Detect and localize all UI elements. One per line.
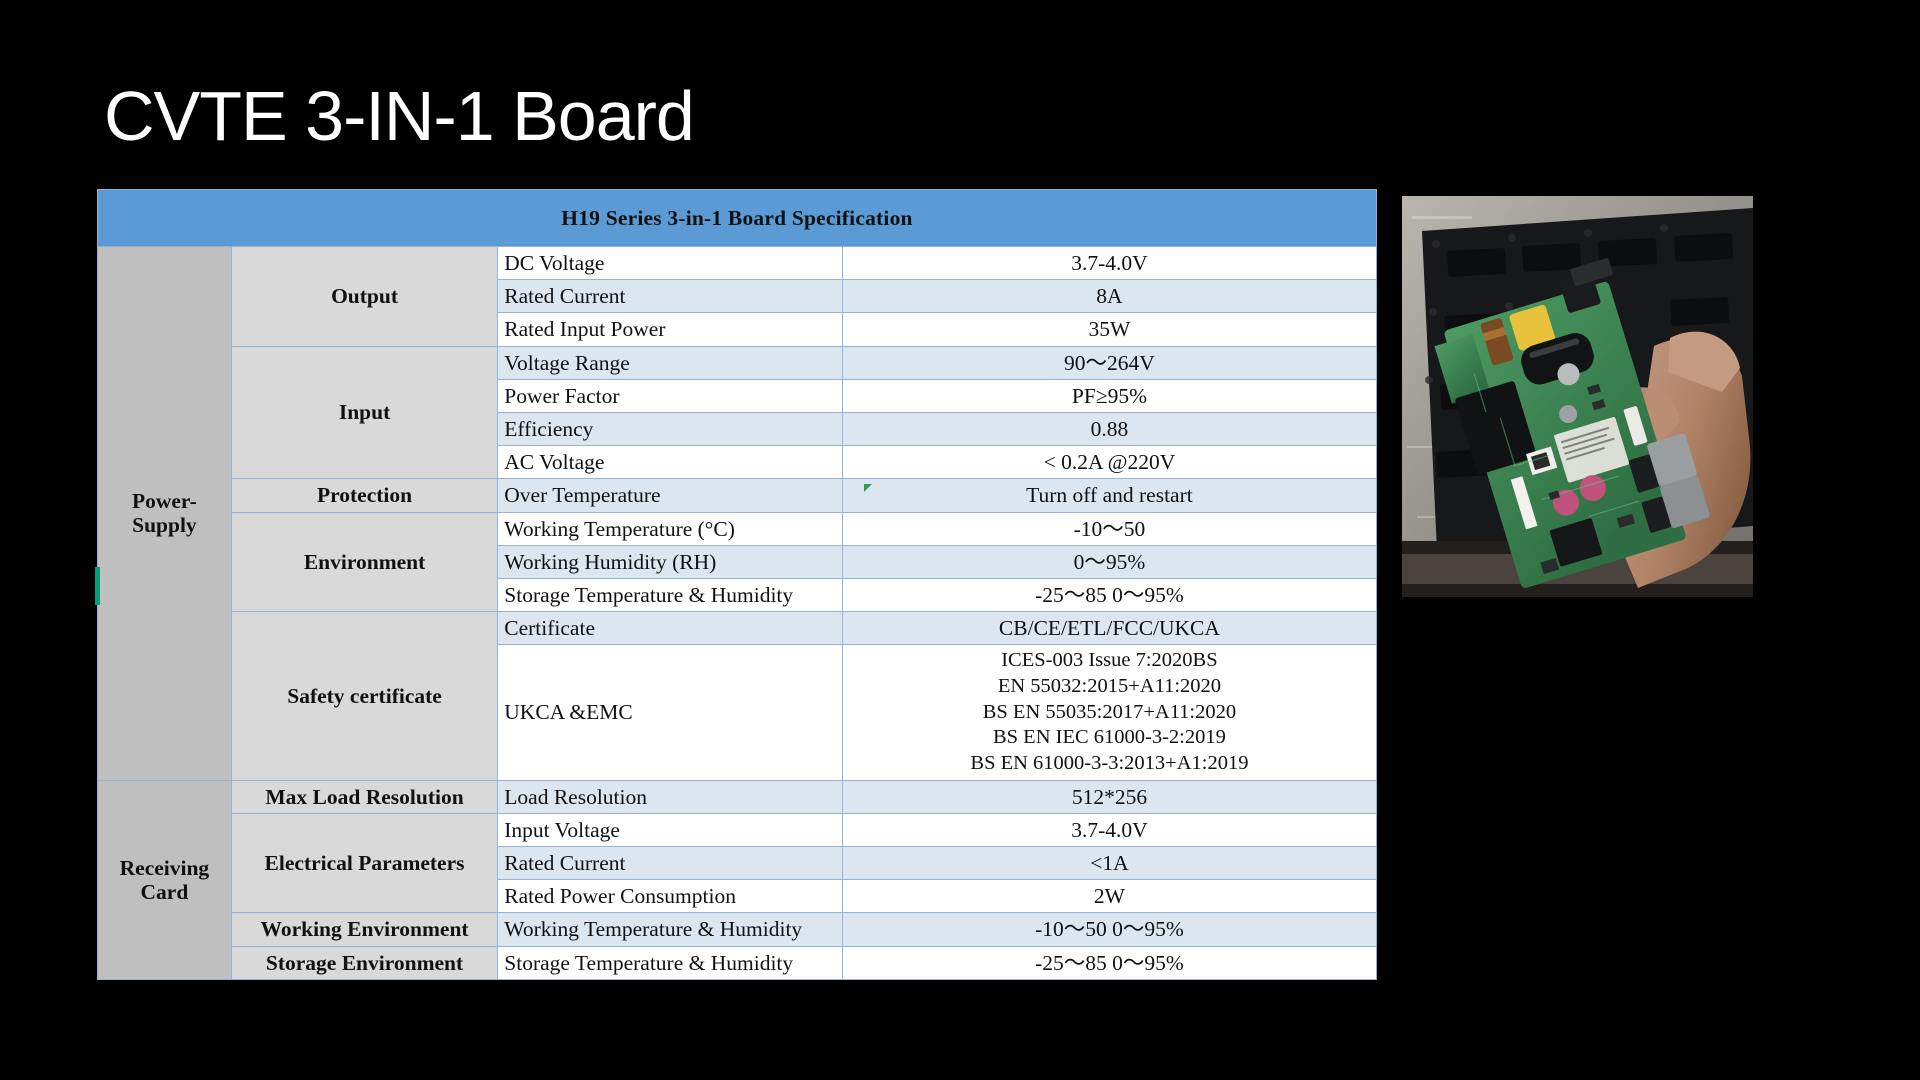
slide-edit-marker [95,567,100,605]
param-label: Storage Temperature & Humidity [498,946,843,979]
param-value: -10～50 [842,512,1376,545]
spec-table: H19 Series 3-in-1 Board SpecificationPow… [97,189,1377,980]
param-label: Working Temperature (°C) [498,512,843,545]
table-row: Storage EnvironmentStorage Temperature &… [98,946,1377,979]
table-banner-row: H19 Series 3-in-1 Board Specification [98,190,1377,247]
presentation-slide: CVTE 3-IN-1 Board H19 Series 3-in-1 Boar… [0,0,1920,1080]
subgroup-label: Working Environment [231,913,497,946]
param-value: < 0.2A @220V [842,446,1376,479]
param-value: 35W [842,313,1376,346]
param-label: Certificate [498,612,843,645]
param-label: Power Factor [498,379,843,412]
table-banner-title: H19 Series 3-in-1 Board Specification [98,190,1377,247]
group-label: Receiving Card [98,780,232,979]
param-value: 3.7-4.0V [842,247,1376,280]
param-value: CB/CE/ETL/FCC/UKCA [842,612,1376,645]
subgroup-label: Max Load Resolution [231,780,497,813]
param-label: AC Voltage [498,446,843,479]
table-row: Receiving CardMax Load ResolutionLoad Re… [98,780,1377,813]
param-value: PF≥95% [842,379,1376,412]
subgroup-label: Environment [231,512,497,612]
board-photo-illustration [1402,196,1753,597]
param-value: 0.88 [842,413,1376,446]
group-label: Power-Supply [98,247,232,781]
param-label: Efficiency [498,413,843,446]
param-value: 3.7-4.0V [842,813,1376,846]
board-photo [1402,196,1753,597]
param-value: 8A [842,280,1376,313]
param-value: 512*256 [842,780,1376,813]
param-label: Rated Current [498,280,843,313]
param-label: DC Voltage [498,247,843,280]
table-row: Working EnvironmentWorking Temperature &… [98,913,1377,946]
page-title: CVTE 3-IN-1 Board [104,80,694,154]
param-value: 0～95% [842,545,1376,578]
param-label: Storage Temperature & Humidity [498,579,843,612]
table-row: InputVoltage Range90～264V [98,346,1377,379]
param-value: -25～85 0～95% [842,946,1376,979]
table-row: EnvironmentWorking Temperature (°C)-10～5… [98,512,1377,545]
param-value: Turn off and restart [842,479,1376,512]
subgroup-label: Protection [231,479,497,512]
param-label: Voltage Range [498,346,843,379]
param-label: Working Humidity (RH) [498,545,843,578]
param-value: -10～50 0～95% [842,913,1376,946]
subgroup-label: Storage Environment [231,946,497,979]
table-row: ProtectionOver TemperatureTurn off and r… [98,479,1377,512]
param-value: <1A [842,846,1376,879]
param-value: -25～85 0～95% [842,579,1376,612]
table-row: Electrical ParametersInput Voltage3.7-4.… [98,813,1377,846]
param-value: 90～264V [842,346,1376,379]
param-label: Load Resolution [498,780,843,813]
subgroup-label: Output [231,247,497,347]
param-value: 2W [842,880,1376,913]
comment-marker-icon [864,484,872,492]
param-label: Input Voltage [498,813,843,846]
table-row: Power-SupplyOutputDC Voltage3.7-4.0V [98,247,1377,280]
param-label: Working Temperature & Humidity [498,913,843,946]
subgroup-label: Safety certificate [231,612,497,780]
param-label: Rated Current [498,846,843,879]
subgroup-label: Input [231,346,497,479]
param-label: Rated Input Power [498,313,843,346]
param-label: UKCA &EMC [498,645,843,780]
subgroup-label: Electrical Parameters [231,813,497,913]
spec-table-body: H19 Series 3-in-1 Board SpecificationPow… [98,190,1377,980]
spec-table-container: H19 Series 3-in-1 Board SpecificationPow… [97,189,1377,980]
param-value: ICES-003 Issue 7:2020BSEN 55032:2015+A11… [842,645,1376,780]
table-row: Safety certificateCertificateCB/CE/ETL/F… [98,612,1377,645]
param-label: Over Temperature [498,479,843,512]
param-label: Rated Power Consumption [498,880,843,913]
